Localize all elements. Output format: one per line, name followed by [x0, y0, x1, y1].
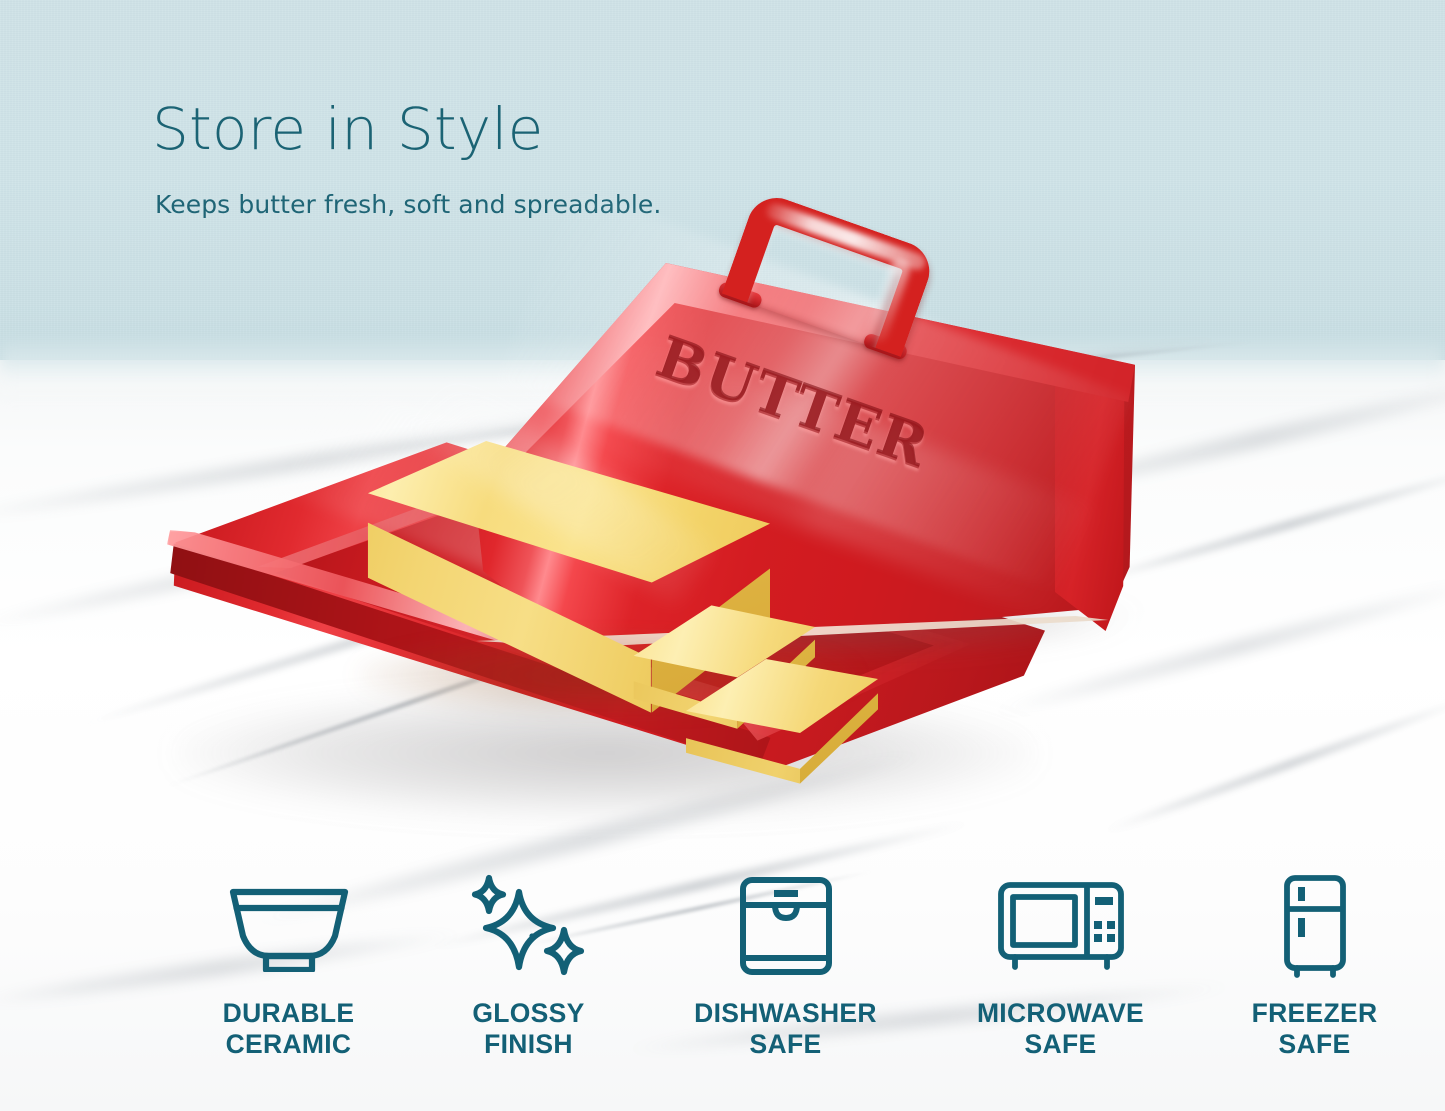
- page-title: Store in Style: [152, 95, 544, 163]
- feature-label: DURABLE CERAMIC: [223, 998, 355, 1060]
- butter-stick: [340, 440, 880, 760]
- sparkles-icon: [463, 872, 595, 980]
- butter-pat-flat: [680, 645, 880, 785]
- dishwasher-icon: [736, 872, 836, 980]
- feature-freezer-safe: FREEZER SAFE: [1225, 872, 1405, 1060]
- feature-durable-ceramic: DURABLE CERAMIC: [191, 872, 387, 1060]
- bowl-icon: [223, 872, 355, 980]
- product-marketing-image: Store in Style Keeps butter fresh, soft …: [0, 0, 1445, 1111]
- feature-microwave-safe: MICROWAVE SAFE: [953, 872, 1169, 1060]
- feature-label: FREEZER SAFE: [1252, 998, 1378, 1060]
- feature-label: DISHWASHER SAFE: [694, 998, 877, 1060]
- feature-list: DURABLE CERAMIC GLOSSY FINISH: [0, 872, 1445, 1087]
- feature-label: GLOSSY FINISH: [472, 998, 584, 1060]
- feature-dishwasher-safe: DISHWASHER SAFE: [671, 872, 901, 1060]
- freezer-icon: [1275, 872, 1355, 980]
- feature-label: MICROWAVE SAFE: [977, 998, 1144, 1060]
- feature-glossy-finish: GLOSSY FINISH: [431, 872, 627, 1060]
- microwave-icon: [995, 872, 1127, 980]
